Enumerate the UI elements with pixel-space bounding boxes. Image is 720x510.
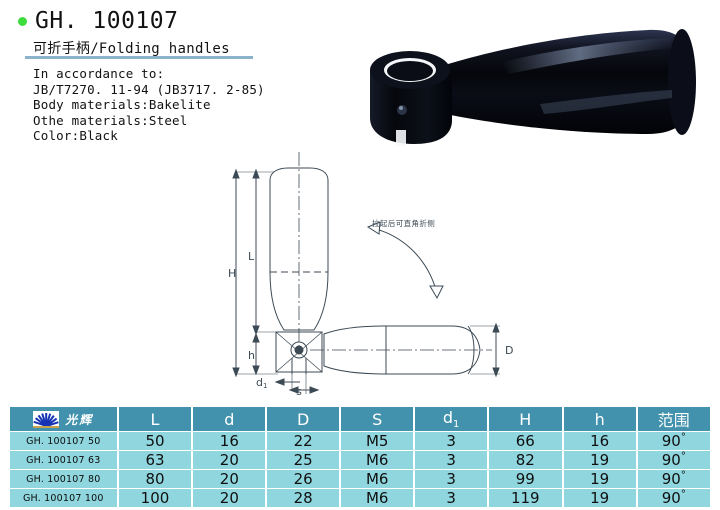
product-photo (352, 12, 718, 162)
column-header-range: 范围 (638, 407, 710, 431)
page-title: GH. 100107 (35, 8, 178, 34)
table-row: GH. 100107 100 100 20 28 M6 3 119 19 90° (10, 489, 710, 507)
rotation-arrow-curve (372, 228, 436, 290)
cell-d: 16 (193, 432, 265, 450)
cell-d1: 3 (415, 432, 487, 450)
cell-L: 100 (119, 489, 192, 507)
photo-set-screw-glint (399, 106, 403, 110)
photo-collar-slot (396, 130, 406, 146)
cell-L: 63 (119, 451, 192, 469)
spec-line: JB/T7270. 11-94 (JB3717. 2-85) (33, 82, 265, 98)
cell-range: 90° (638, 470, 710, 488)
dim-label-D: D (505, 344, 513, 357)
cell-D: 26 (267, 470, 339, 488)
dim-label-H: H (228, 267, 236, 280)
dim-L-arrow-top (253, 170, 259, 178)
dim-label-L: L (248, 250, 255, 263)
cell-part-number: GH. 100107 63 (10, 451, 117, 469)
brand-name: 光辉 (65, 411, 93, 428)
dim-H-arrow-top (233, 170, 239, 178)
rotation-note: 拉起后可直角折侧 (372, 218, 435, 229)
cell-S: M6 (341, 489, 413, 507)
cell-S: M6 (341, 470, 413, 488)
photo-bore (387, 61, 433, 81)
cell-range: 90° (638, 489, 710, 507)
dim-label-h: h (248, 349, 255, 362)
spec-table: 光辉 L d D S d1 H h 范围 GH. 100107 50 50 16… (8, 406, 712, 508)
table-row: GH. 100107 63 63 20 25 M6 3 82 19 90° (10, 451, 710, 469)
title-row: GH. 100107 (18, 8, 178, 34)
spec-line: Body materials:Bakelite (33, 97, 265, 113)
cell-d: 20 (193, 451, 265, 469)
column-header-d: d (193, 407, 265, 431)
cell-part-number: GH. 100107 100 (10, 489, 117, 507)
cell-H: 66 (489, 432, 562, 450)
header-block: GH. 100107 可折手柄/Folding handles In accor… (0, 0, 360, 160)
cell-h: 16 (564, 432, 636, 450)
bullet-icon (18, 17, 27, 26)
column-header-d1: d1 (415, 407, 487, 431)
cell-L: 50 (119, 432, 192, 450)
cell-h: 19 (564, 451, 636, 469)
cell-d1: 3 (415, 489, 487, 507)
table-row: GH. 100107 80 80 20 26 M6 3 99 19 90° (10, 470, 710, 488)
cell-D: 22 (267, 432, 339, 450)
cell-h: 19 (564, 489, 636, 507)
cell-S: M6 (341, 451, 413, 469)
rotation-arrow-head-end (430, 286, 443, 298)
column-header-h: h (564, 407, 636, 431)
dim-label-s: s (296, 385, 302, 395)
cell-range: 90° (638, 451, 710, 469)
dim-D-arrow-top (493, 324, 499, 332)
cell-range: 90° (638, 432, 710, 450)
column-header-L: L (119, 407, 192, 431)
cell-S: M5 (341, 432, 413, 450)
dim-h-arrow-bottom (253, 366, 259, 374)
cell-part-number: GH. 100107 50 (10, 432, 117, 450)
page-subtitle: 可折手柄/Folding handles (33, 38, 230, 58)
spec-line: Color:Black (33, 128, 265, 144)
cell-d: 20 (193, 489, 265, 507)
column-header-H: H (489, 407, 562, 431)
cell-d1: 3 (415, 451, 487, 469)
cell-D: 28 (267, 489, 339, 507)
dim-H-arrow-bottom (233, 368, 239, 376)
cell-h: 19 (564, 470, 636, 488)
spec-line: Othe materials:Steel (33, 113, 265, 129)
cell-d: 20 (193, 470, 265, 488)
cell-D: 25 (267, 451, 339, 469)
dim-label-d1: d1 (256, 376, 267, 390)
cell-H: 82 (489, 451, 562, 469)
spec-list: In accordance to: JB/T7270. 11-94 (JB371… (33, 66, 265, 144)
cell-H: 119 (489, 489, 562, 507)
dim-d1-arrow (276, 379, 284, 385)
dim-D-arrow-bottom (493, 368, 499, 376)
column-header-S: S (341, 407, 413, 431)
drawing-pivot-pin (295, 346, 303, 354)
brand-logo-cell: 光辉 (10, 407, 117, 431)
cell-L: 80 (119, 470, 192, 488)
table-row: GH. 100107 50 50 16 22 M5 3 66 16 90° (10, 432, 710, 450)
title-divider (25, 56, 253, 59)
spec-line: In accordance to: (33, 66, 265, 82)
column-header-D: D (267, 407, 339, 431)
cell-d1: 3 (415, 470, 487, 488)
cell-H: 99 (489, 470, 562, 488)
sunburst-logo-icon (33, 411, 59, 428)
dim-s-arrow-right (310, 387, 318, 393)
dim-h-arrow-top (253, 334, 259, 342)
table-header-row: 光辉 L d D S d1 H h 范围 (10, 407, 710, 431)
cell-part-number: GH. 100107 80 (10, 470, 117, 488)
technical-drawing: H L h d1 s D (200, 150, 540, 395)
